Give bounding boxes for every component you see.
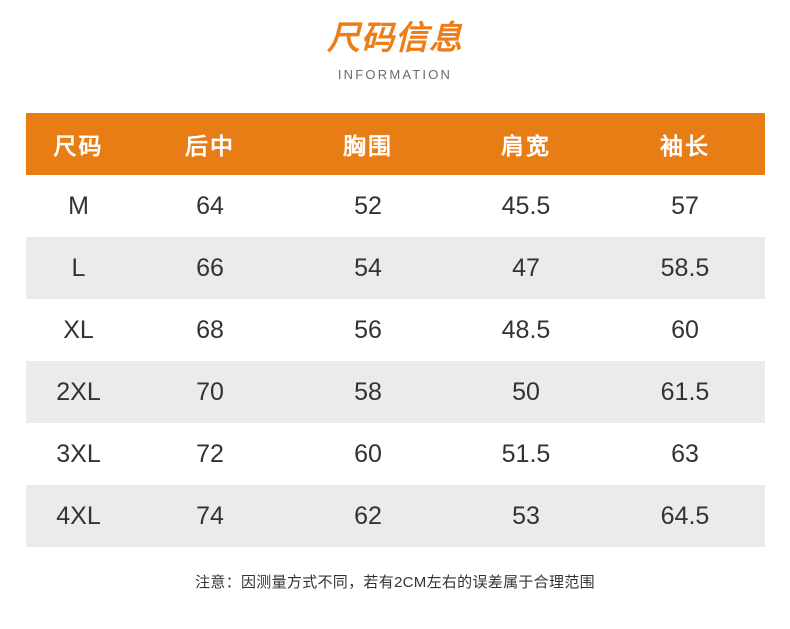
table-row: 2XL 70 58 50 61.5 [26,361,765,423]
cell-shoulder: 50 [447,361,605,423]
size-information-page: 尺码信息 INFORMATION 尺码 后中 胸围 肩宽 袖长 M 64 52 … [0,0,790,629]
cell-chest: 52 [289,175,447,237]
table-row: L 66 54 47 58.5 [26,237,765,299]
cell-back: 74 [131,485,289,547]
column-header-chest: 胸围 [289,113,447,175]
column-header-sleeve: 袖长 [605,113,765,175]
column-header-size: 尺码 [26,113,131,175]
table-row: 3XL 72 60 51.5 63 [26,423,765,485]
column-header-shoulder: 肩宽 [447,113,605,175]
cell-shoulder: 48.5 [447,299,605,361]
cell-shoulder: 45.5 [447,175,605,237]
cell-sleeve: 57 [605,175,765,237]
cell-back: 66 [131,237,289,299]
title-block: 尺码信息 INFORMATION [0,18,790,83]
cell-size: L [26,237,131,299]
column-header-back: 后中 [131,113,289,175]
table-row: 4XL 74 62 53 64.5 [26,485,765,547]
table-row: M 64 52 45.5 57 [26,175,765,237]
cell-sleeve: 63 [605,423,765,485]
table-row: XL 68 56 48.5 60 [26,299,765,361]
size-chart-table: 尺码 后中 胸围 肩宽 袖长 M 64 52 45.5 57 L 66 54 4… [26,113,765,547]
cell-size: XL [26,299,131,361]
table-header: 尺码 后中 胸围 肩宽 袖长 [26,113,765,175]
cell-chest: 54 [289,237,447,299]
cell-chest: 58 [289,361,447,423]
cell-back: 64 [131,175,289,237]
cell-size: 2XL [26,361,131,423]
table-header-row: 尺码 后中 胸围 肩宽 袖长 [26,113,765,175]
cell-back: 70 [131,361,289,423]
cell-sleeve: 58.5 [605,237,765,299]
cell-chest: 56 [289,299,447,361]
cell-sleeve: 64.5 [605,485,765,547]
cell-size: M [26,175,131,237]
cell-chest: 60 [289,423,447,485]
cell-size: 4XL [26,485,131,547]
page-title: 尺码信息 [0,18,790,58]
cell-shoulder: 53 [447,485,605,547]
cell-back: 68 [131,299,289,361]
cell-chest: 62 [289,485,447,547]
cell-back: 72 [131,423,289,485]
cell-size: 3XL [26,423,131,485]
cell-shoulder: 47 [447,237,605,299]
cell-sleeve: 61.5 [605,361,765,423]
cell-shoulder: 51.5 [447,423,605,485]
measurement-note: 注意：因测量方式不同，若有2CM左右的误差属于合理范围 [0,572,790,594]
page-subtitle: INFORMATION [0,67,790,83]
table-body: M 64 52 45.5 57 L 66 54 47 58.5 XL 68 56… [26,175,765,547]
cell-sleeve: 60 [605,299,765,361]
